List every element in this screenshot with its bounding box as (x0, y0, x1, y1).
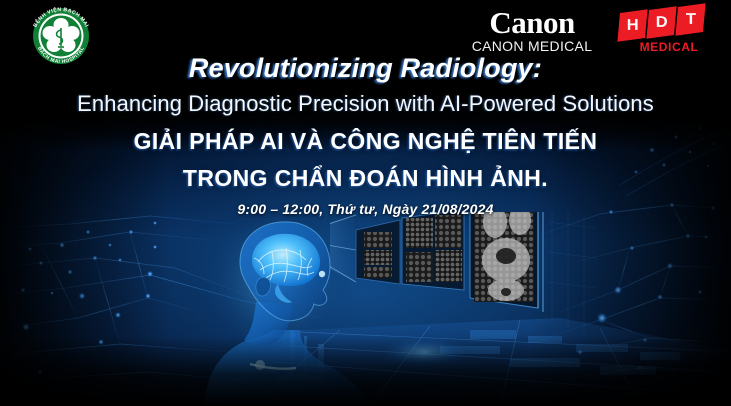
event-datetime: 9:00 – 12:00, Thứ tư, Ngày 21/08/2024 (0, 200, 731, 218)
canon-wordmark: Canon (460, 8, 604, 38)
canon-medical-logo: Canon CANON MEDICAL (460, 8, 604, 54)
hdt-letter-t: T (685, 11, 695, 28)
hdt-medical-logo: H D T MEDICAL (617, 7, 721, 57)
page-subtitle: Enhancing Diagnostic Precision with AI-P… (0, 90, 731, 118)
bottom-fade (0, 336, 731, 406)
headings-block: Revolutionizing Radiology: Enhancing Dia… (0, 52, 731, 218)
page-title: Revolutionizing Radiology: (0, 52, 731, 84)
hdt-tile-d: D (646, 6, 676, 38)
event-banner: BỆNH VIỆN BẠCH MAI BACH MAI HOSPITAL Can… (0, 0, 731, 406)
hdt-letter-h: H (627, 17, 639, 34)
hdt-letter-tiles: H D T (617, 7, 721, 40)
hdt-tile-t: T (675, 3, 705, 35)
title-vietnamese-line-2: TRONG CHẨN ĐOÁN HÌNH ẢNH. (0, 163, 731, 193)
hdt-tile-h: H (617, 9, 647, 41)
hdt-letter-d: D (656, 14, 668, 31)
title-vietnamese-line-1: GIẢI PHÁP AI VÀ CÔNG NGHỆ TIÊN TIẾN (0, 126, 731, 156)
